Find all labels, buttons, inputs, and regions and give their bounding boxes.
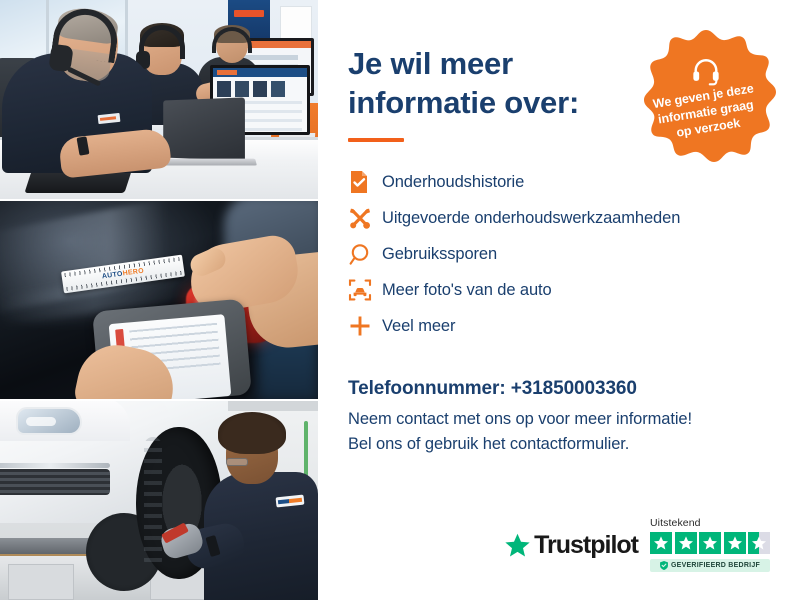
list-item-onderhoudswerkzaamheden: Uitgevoerde onderhoudswerkzaamheden: [348, 200, 766, 236]
star-half-5: [748, 532, 770, 554]
tools-cross-icon: [348, 205, 382, 231]
content-panel: Je wil meer informatie over: Onderhoudsh…: [318, 0, 800, 600]
list-item-label: Veel meer: [382, 317, 455, 336]
list-item-veel-meer: Veel meer: [348, 308, 766, 344]
list-item-label: Onderhoudshistorie: [382, 173, 524, 192]
magnifier-icon: [348, 241, 382, 267]
mechanic-wheel-photo: [0, 401, 318, 600]
star-filled-2: [675, 532, 697, 554]
agent-1-nametag: [98, 113, 121, 124]
car-photo-frame-icon: [348, 277, 382, 303]
phone-number[interactable]: Telefoonnummer: +31850003360: [348, 378, 766, 400]
trustpilot-logo: Trustpilot: [504, 531, 638, 572]
callcenter-agents-photo: [0, 0, 318, 199]
list-item-meer-fotos: Meer foto's van de auto: [348, 272, 766, 308]
car-headlight: [16, 407, 82, 435]
page-title: Je wil meer informatie over:: [348, 44, 628, 122]
headline-line-2: informatie over:: [348, 85, 579, 120]
feature-list: Onderhoudshistorie Uitgevoerd: [348, 164, 766, 344]
autohero-info-banner: AUTOHERO: [0, 0, 800, 600]
title-divider: [348, 138, 404, 142]
mechanic-glasses: [226, 458, 248, 466]
list-item-label: Gebruikssporen: [382, 245, 497, 264]
document-check-icon: [348, 169, 382, 195]
list-item-label: Uitgevoerde onderhoudswerkzaamheden: [382, 209, 680, 228]
mechanic-hair: [218, 412, 286, 454]
badge-content: We geven je deze informatie graag op ver…: [630, 28, 782, 180]
trustpilot-rating-area: Uitstekend: [650, 517, 770, 572]
trustpilot-brand-name: Trustpilot: [534, 531, 638, 560]
laptop-screen: [163, 97, 245, 160]
verified-company-badge: GEVERIFIEERD BEDRIJF: [650, 559, 770, 572]
car-grille: [0, 469, 110, 495]
star-filled-4: [724, 532, 746, 554]
trustpilot-stars: [650, 532, 770, 554]
headset-icon: [691, 56, 721, 86]
autohero-ruler-logo: AUTOHERO: [102, 267, 145, 280]
plus-icon: [348, 313, 382, 339]
headline-line-1: Je wil meer: [348, 46, 513, 81]
star-filled-1: [650, 532, 672, 554]
trustpilot-rating-label: Uitstekend: [650, 517, 701, 529]
list-item-gebruikssporen: Gebruikssporen: [348, 236, 766, 272]
contact-text-line-1: Neem contact met ons op voor meer inform…: [348, 407, 766, 432]
verified-shield-icon: [660, 561, 668, 570]
trustpilot-star-icon: [504, 532, 531, 559]
trustpilot-widget[interactable]: Trustpilot Uitstekend: [504, 517, 770, 572]
badge-text: We geven je deze informatie graag op ver…: [652, 81, 760, 144]
star-filled-3: [699, 532, 721, 554]
list-item-label: Meer foto's van de auto: [382, 281, 552, 300]
damage-measure-photo: AUTOHERO: [0, 201, 318, 400]
photo-column: AUTOHERO: [0, 0, 318, 600]
verified-company-text: GEVERIFIEERD BEDRIJF: [671, 562, 760, 569]
status-badge: We geven je deze informatie graag op ver…: [630, 28, 782, 180]
contact-block: Telefoonnummer: +31850003360 Neem contac…: [348, 378, 766, 457]
contact-text-line-2: Bel ons of gebruik het contactformulier.: [348, 432, 766, 457]
bumper-chrome-trim: [0, 463, 110, 468]
